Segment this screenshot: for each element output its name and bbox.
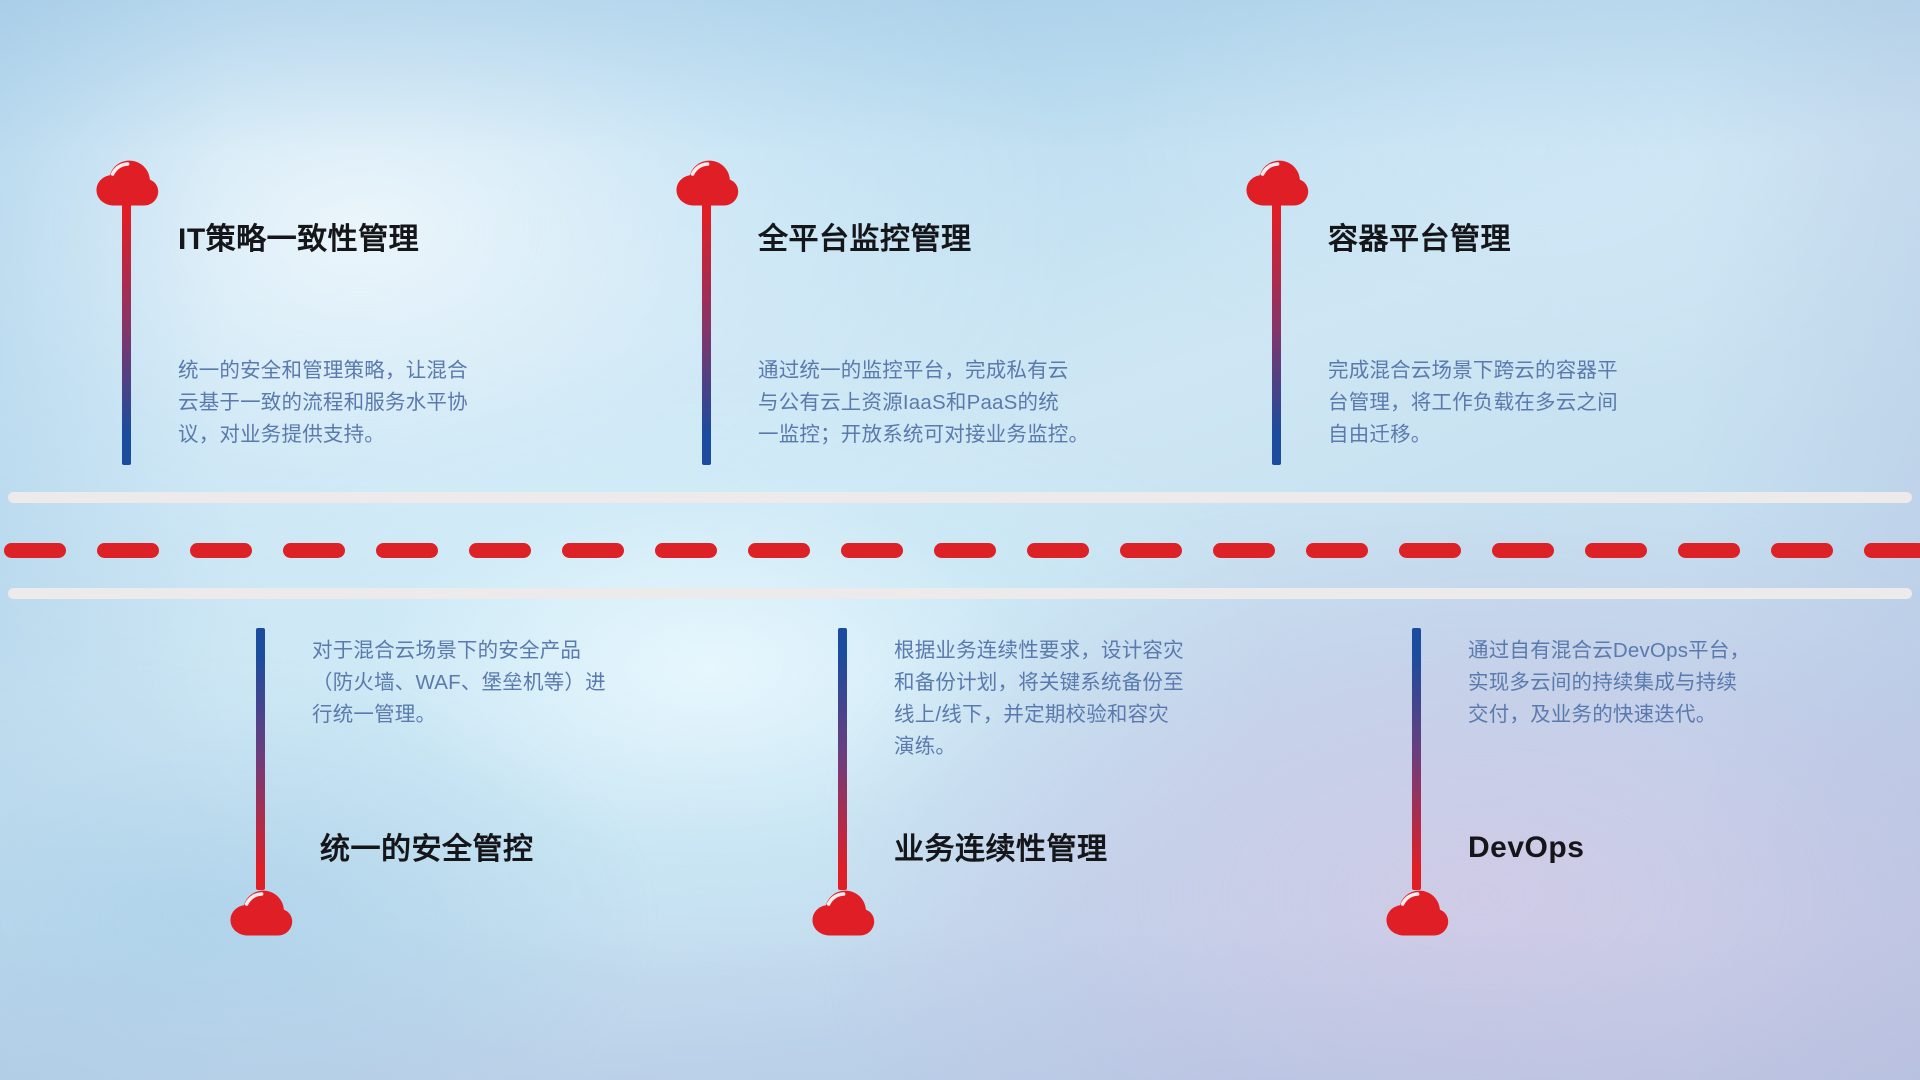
cloud-icon (1385, 890, 1449, 936)
road-dash (1492, 543, 1554, 558)
title-devops: DevOps (1468, 833, 1584, 863)
road-dash (841, 543, 903, 558)
body-it-policy-consistency: 统一的安全和管理策略，让混合 云基于一致的流程和服务水平协 议，对业务提供支持。 (178, 355, 608, 451)
body-devops: 通过自有混合云DevOps平台， 实现多云间的持续集成与持续 交付，及业务的快速… (1468, 635, 1888, 731)
stem-unified-security (256, 628, 265, 890)
road-dash (97, 543, 159, 558)
cloud-icon (811, 890, 875, 936)
stem-it-policy-consistency (122, 200, 131, 465)
stem-container-platform (1272, 200, 1281, 465)
title-full-platform-monitoring: 全平台监控管理 (758, 225, 972, 255)
column-devops (1385, 890, 1449, 936)
road-dash (1120, 543, 1182, 558)
road-edge-bottom (8, 588, 1912, 599)
stem-devops (1412, 628, 1421, 890)
road-dash (1399, 543, 1461, 558)
road-dash (1864, 543, 1920, 558)
title-it-policy-consistency: IT策略一致性管理 (178, 225, 419, 255)
title-unified-security: 统一的安全管控 (320, 835, 534, 865)
road-dash (1771, 543, 1833, 558)
column-business-continuity (811, 890, 875, 936)
body-container-platform: 完成混合云场景下跨云的容器平 台管理，将工作负载在多云之间 自由迁移。 (1328, 355, 1768, 451)
road-dash (655, 543, 717, 558)
stem-full-platform-monitoring (702, 200, 711, 465)
title-container-platform: 容器平台管理 (1328, 225, 1511, 255)
road-dash (748, 543, 810, 558)
road-dash (1678, 543, 1740, 558)
road-edge-top (8, 492, 1912, 503)
road-dash (1306, 543, 1368, 558)
column-unified-security (229, 890, 293, 936)
road-dash (469, 543, 531, 558)
infographic-canvas: IT策略一致性管理 统一的安全和管理策略，让混合 云基于一致的流程和服务水平协 … (0, 0, 1920, 1080)
road-dash (190, 543, 252, 558)
road-dash (1027, 543, 1089, 558)
road-dash (1585, 543, 1647, 558)
body-unified-security: 对于混合云场景下的安全产品 （防火墙、WAF、堡垒机等）进 行统一管理。 (312, 635, 742, 731)
body-full-platform-monitoring: 通过统一的监控平台，完成私有云 与公有云上资源IaaS和PaaS的统 一监控；开… (758, 355, 1208, 451)
road-center-line (0, 543, 1920, 558)
road-dash (283, 543, 345, 558)
body-business-continuity: 根据业务连续性要求，设计容灾 和备份计划，将关键系统备份至 线上/线下，并定期校… (894, 635, 1324, 763)
road-dash (4, 543, 66, 558)
cloud-icon (229, 890, 293, 936)
stem-business-continuity (838, 628, 847, 890)
road-dash (1213, 543, 1275, 558)
road-dash (934, 543, 996, 558)
title-business-continuity: 业务连续性管理 (894, 835, 1108, 865)
road-dash (562, 543, 624, 558)
road-dash (376, 543, 438, 558)
